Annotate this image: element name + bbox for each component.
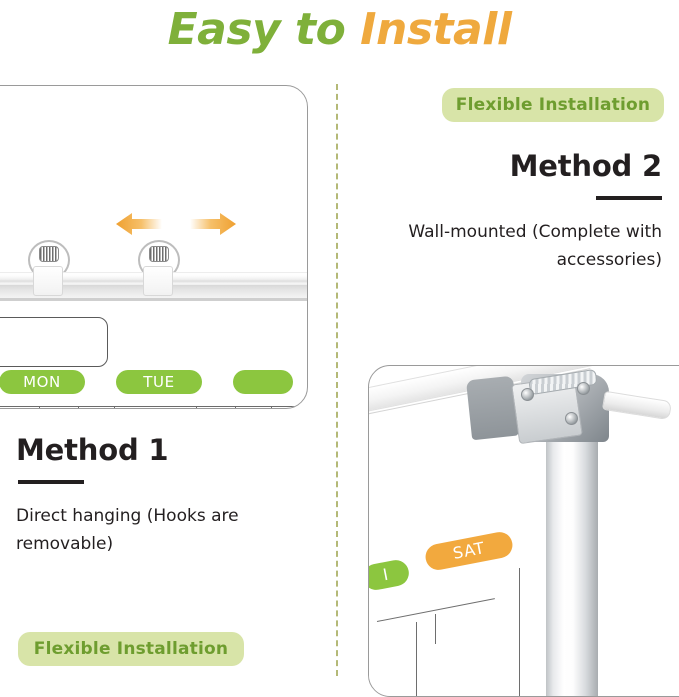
badge-flexible-installation-top: Flexible Installation <box>442 88 664 122</box>
screw-icon <box>565 412 578 425</box>
slide-arrows <box>116 211 236 237</box>
method-2-rule <box>596 196 662 200</box>
badge-flexible-installation-bottom: Flexible Installation <box>18 632 244 666</box>
board-grid <box>0 406 308 409</box>
grid-divider <box>196 407 197 409</box>
arrow-left-icon <box>116 211 162 237</box>
method-1-block: Method 1 Direct hanging (Hooks are remov… <box>16 432 316 558</box>
hook-clip <box>143 266 173 296</box>
photo-method-1: MON TUE <box>0 85 308 409</box>
grid-checkbox <box>435 614 436 644</box>
screw-icon <box>577 382 590 395</box>
day-pill <box>233 370 293 394</box>
grid-checkbox <box>235 407 272 409</box>
page-title-orange: Install <box>360 4 511 55</box>
page-title-green: Easy to <box>168 4 361 55</box>
method-1-rule <box>18 480 84 484</box>
method-1-description: Direct hanging (Hooks are removable) <box>16 502 316 558</box>
scene-wall-mounted: I SAT <box>369 366 679 696</box>
grid-checkbox <box>78 407 115 409</box>
day-pill-row: MON TUE <box>0 370 307 396</box>
method-2-block: Method 2 Wall-mounted (Complete with acc… <box>398 148 662 274</box>
day-pill-mon: MON <box>0 370 85 394</box>
hook-clip <box>33 266 63 296</box>
hanging-rail-edge <box>0 298 308 301</box>
page-title: Easy to Install <box>0 2 679 58</box>
grid-divider <box>416 622 417 696</box>
scene-direct-hanging: MON TUE <box>0 86 307 408</box>
grid-divider <box>39 407 40 409</box>
screw-icon <box>521 388 534 401</box>
arrow-right-icon <box>190 211 236 237</box>
aluminium-post <box>546 421 598 697</box>
method-2-description: Wall-mounted (Complete with accessories) <box>398 218 662 274</box>
section-divider <box>336 84 338 676</box>
day-pill-tue: TUE <box>116 370 202 394</box>
method-1-title: Method 1 <box>16 432 316 468</box>
photo-method-2: I SAT <box>368 365 679 697</box>
board-title-panel <box>0 317 108 367</box>
grid-divider <box>519 568 520 697</box>
method-2-title: Method 2 <box>398 148 662 184</box>
wall-anchor-plug <box>602 391 672 420</box>
